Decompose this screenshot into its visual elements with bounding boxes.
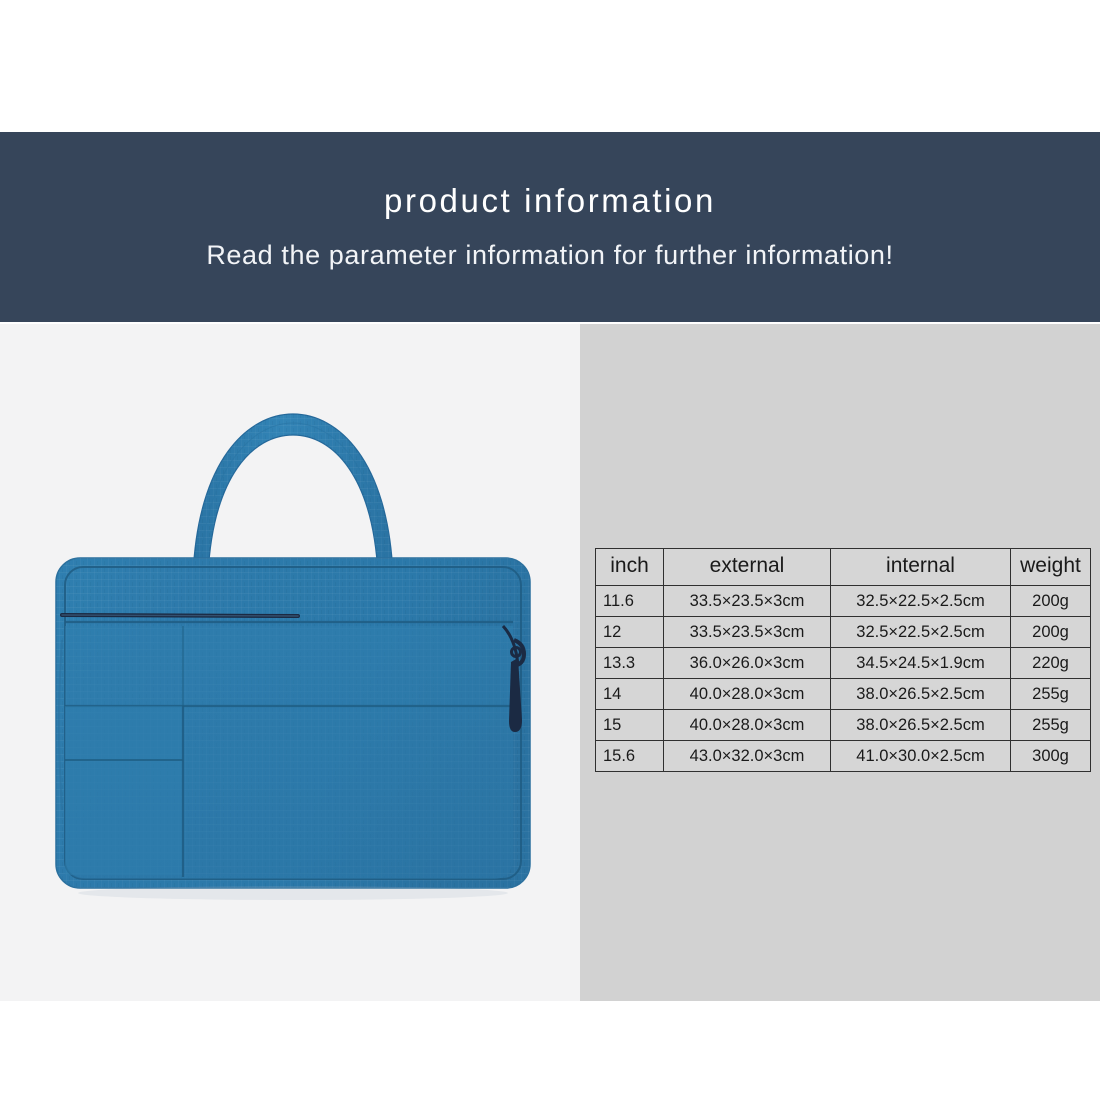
table-row: 13.3 36.0×26.0×3cm 34.5×24.5×1.9cm 220g [596,648,1091,679]
cell-external: 36.0×26.0×3cm [664,648,831,679]
cell-external: 43.0×32.0×3cm [664,741,831,772]
table-row: 12 33.5×23.5×3cm 32.5×22.5×2.5cm 200g [596,617,1091,648]
cell-external: 40.0×28.0×3cm [664,679,831,710]
cell-weight: 255g [1011,710,1091,741]
front-pocket-zipper [62,615,298,616]
cell-internal: 41.0×30.0×2.5cm [831,741,1011,772]
cell-weight: 200g [1011,617,1091,648]
table-header-row: inch external internal weight [596,549,1091,586]
product-spec-table: inch external internal weight 11.6 33.5×… [595,548,1091,772]
cell-internal: 32.5×22.5×2.5cm [831,617,1011,648]
column-header-inch: inch [596,549,664,586]
cell-external: 33.5×23.5×3cm [664,586,831,617]
cell-weight: 255g [1011,679,1091,710]
cell-external: 33.5×23.5×3cm [664,617,831,648]
bottom-white-margin [0,1001,1100,1100]
page-title: product information [384,183,716,219]
cell-internal: 38.0×26.5×2.5cm [831,679,1011,710]
cell-internal: 32.5×22.5×2.5cm [831,586,1011,617]
page-subtitle: Read the parameter information for furth… [206,241,893,271]
cell-inch: 15 [596,710,664,741]
main-content: inch external internal weight 11.6 33.5×… [0,324,1100,1001]
table-row: 15.6 43.0×32.0×3cm 41.0×30.0×2.5cm 300g [596,741,1091,772]
product-photo-panel [0,324,580,1001]
table-row: 15 40.0×28.0×3cm 38.0×26.5×2.5cm 255g [596,710,1091,741]
spec-table-panel: inch external internal weight 11.6 33.5×… [580,324,1100,1001]
table-row: 14 40.0×28.0×3cm 38.0×26.5×2.5cm 255g [596,679,1091,710]
cell-inch: 12 [596,617,664,648]
cell-inch: 14 [596,679,664,710]
cell-inch: 13.3 [596,648,664,679]
header-banner: product information Read the parameter i… [0,132,1100,322]
column-header-weight: weight [1011,549,1091,586]
cell-inch: 15.6 [596,741,664,772]
cell-weight: 220g [1011,648,1091,679]
product-bag-image [48,390,538,910]
cell-internal: 38.0×26.5×2.5cm [831,710,1011,741]
cell-inch: 11.6 [596,586,664,617]
column-header-external: external [664,549,831,586]
cell-weight: 300g [1011,741,1091,772]
table-row: 11.6 33.5×23.5×3cm 32.5×22.5×2.5cm 200g [596,586,1091,617]
column-header-internal: internal [831,549,1011,586]
cell-internal: 34.5×24.5×1.9cm [831,648,1011,679]
cell-external: 40.0×28.0×3cm [664,710,831,741]
top-white-margin [0,0,1100,132]
lower-left-pocket [65,706,183,877]
cell-weight: 200g [1011,586,1091,617]
